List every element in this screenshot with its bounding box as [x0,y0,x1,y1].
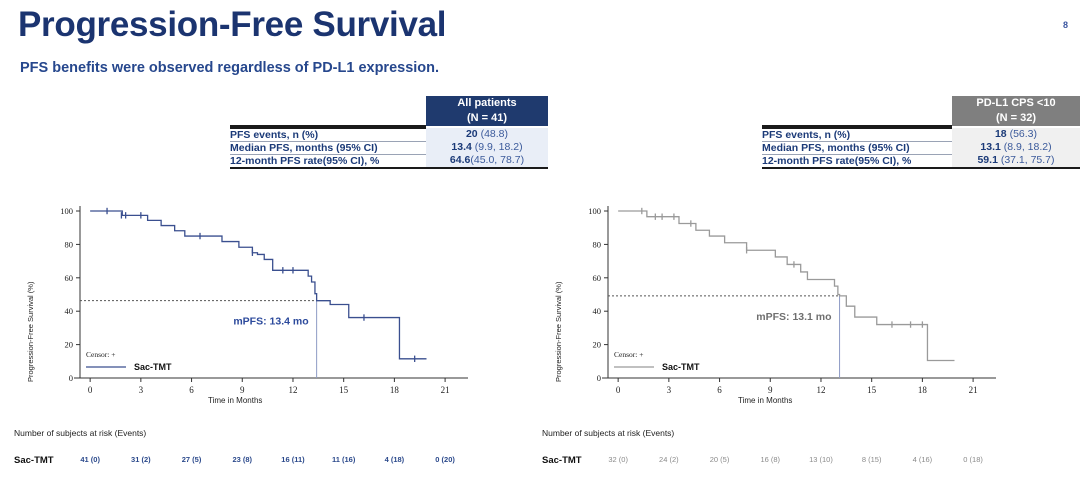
row-value-ci: (8.9, 18.2) [1001,141,1052,153]
table-row: PFS events, n (%) 18 (56.3) [762,128,1080,141]
row-value-bold: 13.1 [980,141,1000,153]
page-subtitle: PFS benefits were observed regardless of… [20,60,439,76]
column-header-pdl1-cps: PD-L1 CPS <10 (N = 32) [952,96,1080,126]
svg-text:80: 80 [593,239,602,249]
svg-text:Censor: +: Censor: + [86,350,115,359]
left-km-plot: 020406080100036912151821mPFS: 13.4 moCen… [14,196,474,411]
column-header-line1: PD-L1 CPS <10 [952,96,1080,111]
risk-value: 24 (2) [659,455,679,464]
right-risk-values: 32 (0)24 (2)20 (5)16 (8)13 (10)8 (15)4 (… [530,455,1020,469]
row-label: Median PFS, months (95% CI) [762,141,952,154]
table-bottom-border [762,167,1080,168]
svg-text:0: 0 [69,373,73,383]
table-row: 12-month PFS rate(95% CI), % 64.6(45.0, … [230,154,548,167]
page-title: Progression-Free Survival [18,6,446,45]
svg-text:100: 100 [588,206,601,216]
svg-text:9: 9 [768,385,773,395]
left-summary-table: All patients (N = 41) PFS events, n (%) … [230,96,548,169]
row-value: 59.1 (37.1, 75.7) [952,154,1080,167]
svg-text:mPFS: 13.1 mo: mPFS: 13.1 mo [756,311,831,323]
left-risk-title: Number of subjects at risk (Events) [14,428,146,438]
table-row: PFS events, n (%) 20 (48.8) [230,128,548,141]
row-value-bold: 18 [995,128,1007,140]
column-header-line2: (N = 32) [952,111,1080,126]
risk-value: 0 (18) [963,455,983,464]
svg-text:40: 40 [593,306,602,316]
svg-text:21: 21 [969,385,978,395]
svg-text:15: 15 [867,385,877,395]
row-value: 18 (56.3) [952,128,1080,141]
svg-text:21: 21 [441,385,450,395]
row-value-bold: 64.6 [450,154,470,166]
svg-text:3: 3 [667,385,672,395]
table-row: Median PFS, months (95% CI) 13.1 (8.9, 1… [762,141,1080,154]
right-summary-table: PD-L1 CPS <10 (N = 32) PFS events, n (%)… [762,96,1080,169]
table-header-row: PD-L1 CPS <10 (N = 32) [762,96,1080,126]
risk-value: 13 (10) [809,455,833,464]
risk-value: 11 (16) [332,455,355,464]
row-label: PFS events, n (%) [762,128,952,141]
row-label: PFS events, n (%) [230,128,426,141]
slide-root: Progression-Free Survival PFS benefits w… [0,0,1080,485]
row-value-bold: 13.4 [451,141,471,153]
risk-value: 0 (20) [435,455,455,464]
column-header-all-patients: All patients (N = 41) [426,96,548,126]
svg-text:80: 80 [65,239,74,249]
svg-text:9: 9 [240,385,245,395]
row-value-ci: (56.3) [1007,128,1037,140]
svg-text:0: 0 [616,385,621,395]
risk-value: 41 (0) [80,455,100,464]
svg-text:12: 12 [288,385,297,395]
svg-text:40: 40 [65,306,74,316]
right-risk-title: Number of subjects at risk (Events) [542,428,674,438]
svg-text:Sac-TMT: Sac-TMT [662,362,700,372]
row-value-bold: 20 [466,128,478,140]
risk-value: 20 (5) [710,455,730,464]
risk-value: 23 (8) [232,455,252,464]
column-header-line1: All patients [426,96,548,111]
svg-text:60: 60 [593,273,602,283]
svg-text:Sac-TMT: Sac-TMT [134,362,172,372]
right-chart-ylabel: Progression-Free Survival (%) [554,282,563,382]
svg-text:15: 15 [339,385,349,395]
svg-text:0: 0 [597,373,601,383]
svg-text:6: 6 [717,385,722,395]
blank-header-cell [762,96,952,126]
blank-header-cell [230,96,426,126]
row-label: Median PFS, months (95% CI) [230,141,426,154]
row-value-ci: (9.9, 18.2) [472,141,523,153]
right-km-chart: Progression-Free Survival (%) 0204060801… [542,196,1007,411]
left-km-chart: Progression-Free Survival (%) 0204060801… [14,196,474,411]
table-bottom-border [230,167,548,168]
table-header-row: All patients (N = 41) [230,96,548,126]
svg-text:18: 18 [918,385,928,395]
row-value-ci: (37.1, 75.7) [998,154,1055,166]
row-value: 20 (48.8) [426,128,548,141]
risk-value: 31 (2) [131,455,151,464]
svg-text:12: 12 [816,385,825,395]
svg-text:0: 0 [88,385,93,395]
risk-value: 8 (15) [862,455,882,464]
row-value: 13.4 (9.9, 18.2) [426,141,548,154]
right-km-plot: 020406080100036912151821mPFS: 13.1 moCen… [542,196,1007,411]
svg-text:3: 3 [139,385,144,395]
row-value-ci: (48.8) [478,128,508,140]
svg-text:mPFS: 13.4 mo: mPFS: 13.4 mo [233,316,308,328]
row-value: 64.6(45.0, 78.7) [426,154,548,167]
risk-value: 4 (18) [385,455,405,464]
row-label: 12-month PFS rate(95% CI), % [230,154,426,167]
column-header-line2: (N = 41) [426,111,548,126]
row-value: 13.1 (8.9, 18.2) [952,141,1080,154]
page-number: 8 [1063,20,1068,30]
risk-value: 16 (8) [760,455,780,464]
risk-value: 32 (0) [608,455,628,464]
risk-value: 27 (5) [182,455,202,464]
risk-value: 4 (16) [913,455,933,464]
svg-text:20: 20 [593,340,602,350]
table-row: Median PFS, months (95% CI) 13.4 (9.9, 1… [230,141,548,154]
table-row: 12-month PFS rate(95% CI), % 59.1 (37.1,… [762,154,1080,167]
left-chart-xlabel: Time in Months [208,396,262,405]
svg-text:6: 6 [189,385,194,395]
svg-text:20: 20 [65,340,74,350]
row-value-ci: (45.0, 78.7) [470,154,524,166]
svg-text:60: 60 [65,273,74,283]
row-label: 12-month PFS rate(95% CI), % [762,154,952,167]
right-chart-xlabel: Time in Months [738,396,792,405]
svg-text:Censor: +: Censor: + [614,350,643,359]
row-value-bold: 59.1 [977,154,997,166]
risk-value: 16 (11) [281,455,304,464]
left-risk-values: 41 (0)31 (2)27 (5)23 (8)16 (11)11 (16)4 … [0,455,480,469]
svg-text:18: 18 [390,385,400,395]
svg-text:100: 100 [60,206,73,216]
left-chart-ylabel: Progression-Free Survival (%) [26,282,35,382]
